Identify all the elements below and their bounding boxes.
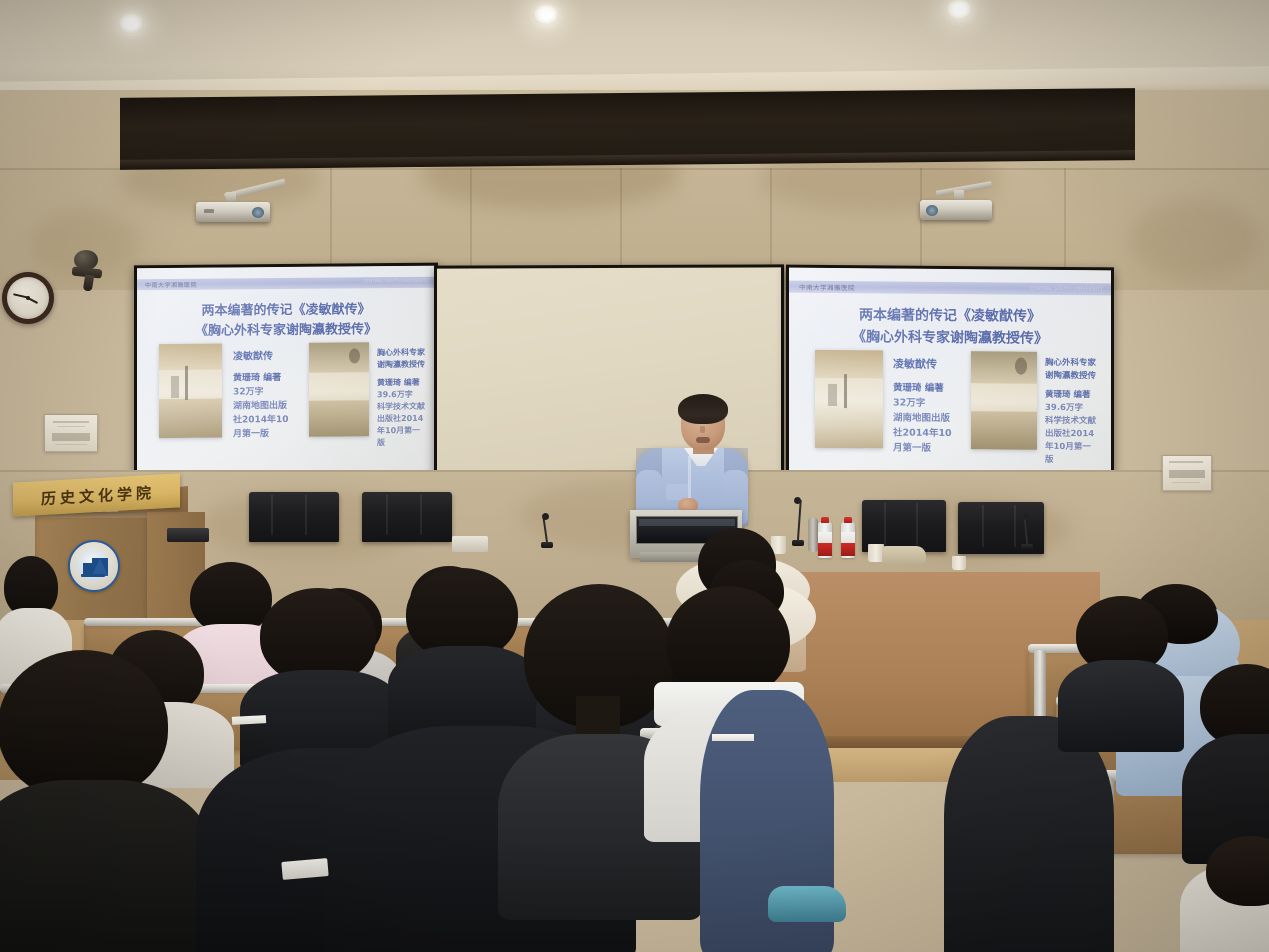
left-projection-screen: 中南大学湘雅医院 CENTRAL SOUTH UNIVERSITY 两本编著的传… (134, 263, 438, 486)
chair-2 (362, 492, 452, 542)
downlight-3 (946, 0, 972, 20)
ceiling-projector-right (918, 186, 1010, 224)
audience-person-right-3 (1180, 836, 1269, 952)
desk-item (452, 536, 488, 552)
notice-board-left (44, 414, 98, 452)
paper-on-desk-2 (712, 734, 754, 741)
slide-right: 中南大学湘雅医院 CENTRAL SOUTH UNIVERSITY 两本编著的传… (789, 268, 1111, 489)
wall-clock (2, 272, 54, 324)
folded-cloth (882, 546, 926, 564)
center-projection-screen (434, 264, 784, 483)
university-emblem (68, 540, 120, 592)
audience-person-front-1 (0, 650, 210, 952)
downlight-2 (533, 5, 559, 25)
paper-cup-3 (952, 556, 966, 570)
audience-person-front-8 (1058, 596, 1178, 746)
laptop-on-table (167, 528, 209, 542)
microphone-right (1020, 516, 1034, 552)
notice-board-right (1162, 455, 1212, 491)
water-bottle-1 (818, 522, 832, 558)
audience-person-right-2 (1192, 664, 1269, 864)
microphone-left (540, 516, 554, 550)
wall-security-camera (70, 250, 110, 292)
slide-left: 中南大学湘雅医院 CENTRAL SOUTH UNIVERSITY 两本编著的传… (137, 266, 435, 483)
water-bottle-2 (841, 522, 855, 558)
audience-shoe (768, 886, 846, 922)
ceiling-projector-left (196, 186, 292, 224)
chair-1 (249, 492, 339, 542)
right-projection-screen: 中南大学湘雅医院 CENTRAL SOUTH UNIVERSITY 两本编著的传… (786, 265, 1114, 492)
lecture-hall-photo: 中南大学湘雅医院 CENTRAL SOUTH UNIVERSITY 两本编著的传… (0, 0, 1269, 952)
downlight-1 (118, 14, 144, 34)
